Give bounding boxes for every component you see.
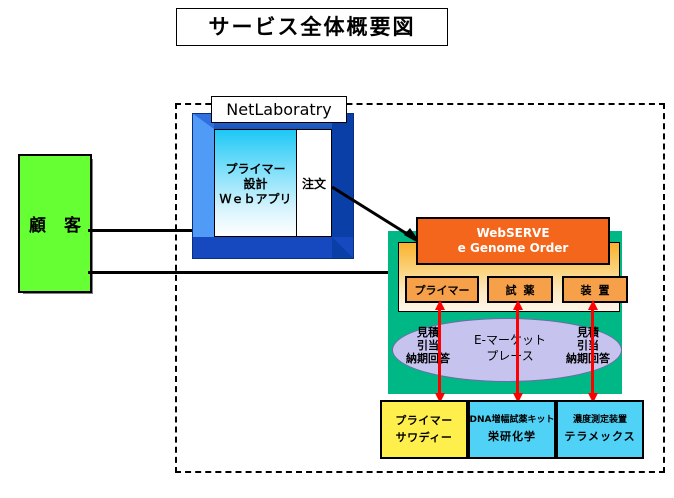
quote-left-line-2: 引当 [397,339,459,352]
emarketplace-label: E-マーケット プレース [455,332,565,364]
supplier-1-product: DNA増幅試薬キット [470,416,555,426]
supplier-box-equipment[interactable]: 濃度測定装置 テラメックス [556,400,644,459]
double-arrow-primer-stem [438,309,441,394]
arrow-customer-to-marketplace-line [88,271,399,274]
webserve-line-1: WebSERVE [476,226,549,241]
arrow-customer-to-netlab-line [88,229,195,232]
tab-primer[interactable]: プライマー [405,276,479,303]
quote-block-left: 見積 引当 納期回答 [397,326,459,366]
diagram-title-box: サービス全体概要図 [176,8,448,46]
tab-equipment[interactable]: 装置 [562,276,628,303]
tab-equipment-label: 装置 [574,282,617,298]
page-title: サービス全体概要図 [209,17,416,38]
double-arrow-reagent [513,300,522,403]
supplier-box-primer[interactable]: プライマー サワディー [380,400,468,459]
supplier-2-product: 濃度測定装置 [573,416,627,426]
double-arrow-reagent-stem [516,309,519,394]
webapp-line-2: 設計 [243,178,267,192]
supplier-box-reagent[interactable]: DNA増幅試薬キット 栄研化学 [468,400,556,459]
tab-reagent[interactable]: 試薬 [487,276,553,303]
customer-box[interactable]: 顧 客 [18,154,92,293]
double-arrow-equipment-stem [591,309,594,394]
double-arrow-equipment [588,300,597,403]
diagram-canvas: サービス全体概要図 顧 客 プライマー 設計 Ｗｅｂアプリ 注文 [0,0,674,498]
tab-primer-label: プライマー [415,282,470,298]
quote-left-line-1: 見積 [397,326,459,339]
primer-design-webapp-panel[interactable]: プライマー 設計 Ｗｅｂアプリ [215,130,297,236]
supplier-2-company: テラメックス [564,431,635,443]
netlaboratry-caption-box: NetLaboratry [211,96,347,123]
webserve-line-2: e Genome Order [458,241,569,256]
tab-reagent-label: 試薬 [499,282,542,298]
supplier-1-company: 栄研化学 [488,431,536,443]
webserve-banner[interactable]: WebSERVE e Genome Order [416,217,610,265]
supplier-0-company: サワディー [396,432,453,444]
customer-label: 顧 客 [23,211,87,236]
supplier-0-product: プライマー [395,415,453,427]
emarketplace-line-2: プレース [455,348,565,364]
webapp-line-1: プライマー [225,163,285,177]
emarketplace-line-1: E-マーケット [455,332,565,348]
double-arrow-primer [435,300,444,403]
webapp-line-3: Ｗｅｂアプリ [219,193,291,207]
order-panel-netlab[interactable]: 注文 [297,130,331,236]
quote-left-line-3: 納期回答 [397,352,459,365]
order-label: 注文 [302,175,326,192]
monitor-screen: プライマー 設計 Ｗｅｂアプリ 注文 [214,129,332,237]
netlaboratry-label: NetLaboratry [226,100,331,119]
arrow-order-to-webserve [330,185,430,250]
